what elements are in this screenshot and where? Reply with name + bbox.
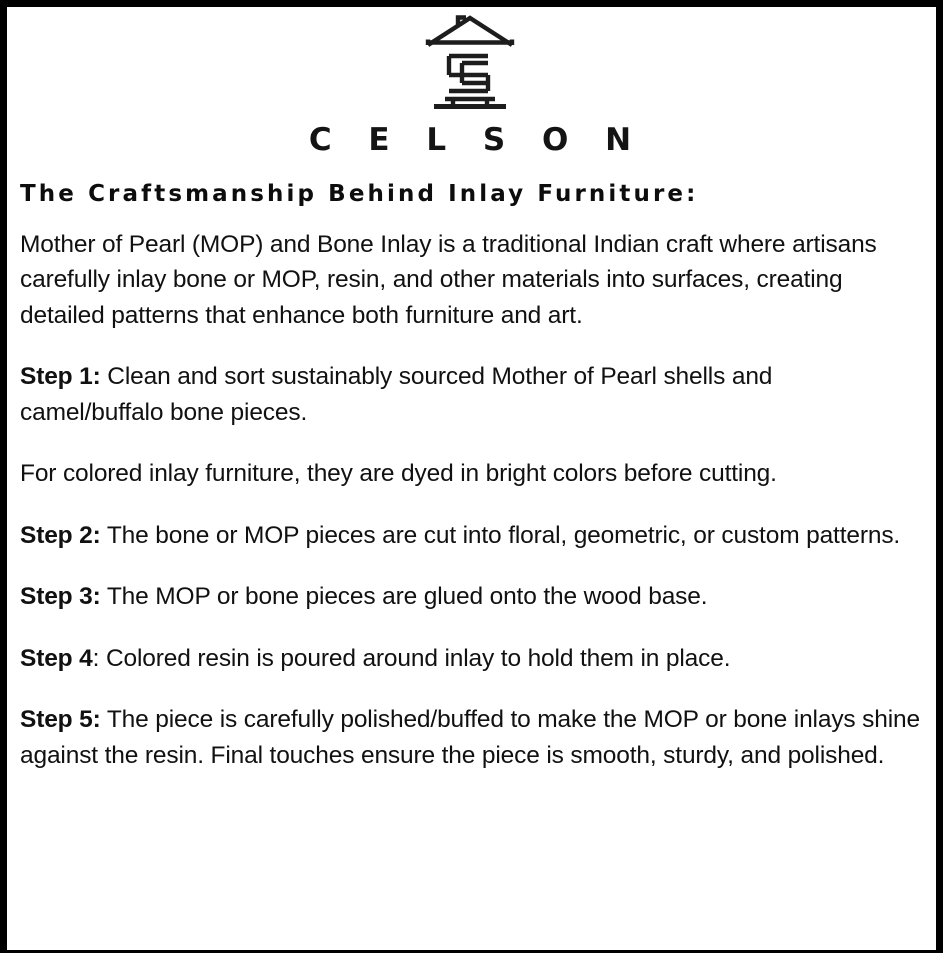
paragraph-lead: Step 3:: [20, 583, 101, 610]
paragraph-step-2: Step 2: The bone or MOP pieces are cut i…: [20, 518, 920, 554]
body-copy: Mother of Pearl (MOP) and Bone Inlay is …: [20, 209, 924, 774]
paragraph-text: : Colored resin is poured around inlay t…: [93, 645, 731, 672]
house-monogram-icon: [422, 15, 518, 115]
paragraph-lead: Step 5:: [20, 706, 101, 733]
paragraph-dyeing-note: For colored inlay furniture, they are dy…: [20, 456, 920, 492]
paragraph-step-1: Step 1: Clean and sort sustainably sourc…: [20, 359, 920, 430]
brand-name: C E L S O N: [16, 125, 924, 156]
poster-inner: C E L S O N The Craftsmanship Behind Inl…: [7, 7, 936, 950]
paragraph-step-4: Step 4: Colored resin is poured around i…: [20, 641, 920, 677]
page-title: The Craftsmanship Behind Inlay Furniture…: [20, 181, 924, 209]
brand-block: C E L S O N: [16, 9, 924, 156]
paragraph-text: The bone or MOP pieces are cut into flor…: [101, 522, 900, 549]
paragraph-text: Clean and sort sustainably sourced Mothe…: [20, 363, 772, 426]
paragraph-step-5: Step 5: The piece is carefully polished/…: [20, 702, 920, 773]
poster-card: C E L S O N The Craftsmanship Behind Inl…: [0, 0, 943, 953]
paragraph-text: The piece is carefully polished/buffed t…: [20, 706, 920, 769]
paragraph-intro: Mother of Pearl (MOP) and Bone Inlay is …: [20, 227, 920, 334]
paragraph-lead: Step 1:: [20, 363, 101, 390]
paragraph-step-3: Step 3: The MOP or bone pieces are glued…: [20, 579, 920, 615]
paragraph-text: For colored inlay furniture, they are dy…: [20, 460, 777, 487]
paragraph-text: The MOP or bone pieces are glued onto th…: [101, 583, 708, 610]
paragraph-lead: Step 4: [20, 645, 93, 672]
paragraph-text: Mother of Pearl (MOP) and Bone Inlay is …: [20, 231, 877, 329]
paragraph-lead: Step 2:: [20, 522, 101, 549]
